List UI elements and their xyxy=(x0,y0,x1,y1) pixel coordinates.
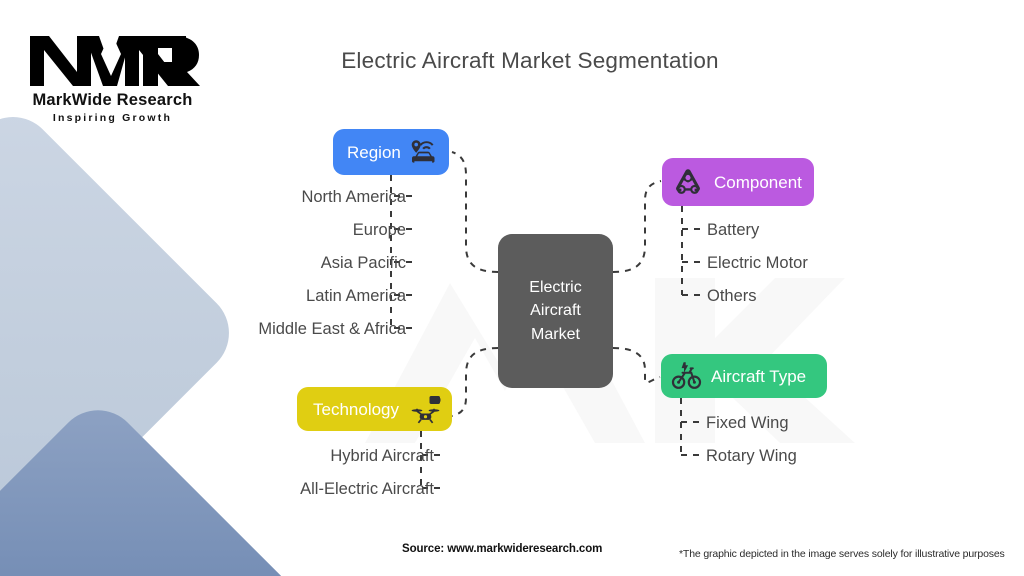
leaf-component-2[interactable]: Others xyxy=(707,288,757,305)
branch-node-component[interactable]: Component xyxy=(662,158,814,206)
central-node-line-3: Market xyxy=(531,323,580,346)
leaf-component-1[interactable]: Electric Motor xyxy=(707,255,808,272)
leaf-aircraft-type-0[interactable]: Fixed Wing xyxy=(706,415,789,432)
branch-node-aircraft-type-label: Aircraft Type xyxy=(711,368,806,385)
branch-node-aircraft-type[interactable]: Aircraft Type xyxy=(661,354,827,398)
branch-node-technology[interactable]: Technology xyxy=(297,387,452,431)
logo-company-name: MarkWide Research xyxy=(25,91,200,110)
drone-camera-icon xyxy=(410,394,442,424)
leaf-region-2[interactable]: Asia Pacific xyxy=(321,255,406,272)
leaf-component-0[interactable]: Battery xyxy=(707,222,759,239)
leaf-region-0[interactable]: North America xyxy=(301,189,406,206)
central-node-line-1: Electric xyxy=(529,276,581,299)
leaf-region-3[interactable]: Latin America xyxy=(306,288,406,305)
source-text: Source: www.markwideresearch.com xyxy=(402,543,602,555)
wire-center-region xyxy=(452,152,498,272)
decorative-square-dark xyxy=(0,393,310,576)
branch-node-component-label: Component xyxy=(714,174,802,191)
page-title: Electric Aircraft Market Segmentation xyxy=(0,48,1024,74)
page-title-text: Electric Aircraft Market Segmentation xyxy=(341,48,719,73)
disclaimer-text: *The graphic depicted in the image serve… xyxy=(679,548,1005,560)
leaf-aircraft-type-1[interactable]: Rotary Wing xyxy=(706,448,797,465)
brand-logo: MarkWide Research Inspiring Growth xyxy=(25,28,200,124)
location-vehicle-icon xyxy=(409,139,439,165)
branch-node-region-label: Region xyxy=(347,144,401,161)
infographic-canvas: MarkWide Research Inspiring Growth Elect… xyxy=(0,0,1024,576)
logo-tagline: Inspiring Growth xyxy=(25,112,200,124)
branch-node-region[interactable]: Region xyxy=(333,129,449,175)
leaf-technology-1[interactable]: All-Electric Aircraft xyxy=(300,481,434,498)
electric-bicycle-icon xyxy=(671,361,703,391)
central-node-line-2: Aircraft xyxy=(530,299,581,322)
branch-node-technology-label: Technology xyxy=(313,401,399,418)
leaf-technology-0[interactable]: Hybrid Aircraft xyxy=(330,448,434,465)
wire-center-technology xyxy=(452,348,498,416)
leaf-region-4[interactable]: Middle East & Africa xyxy=(258,321,406,338)
wire-center-component xyxy=(613,181,661,272)
wire-center-aircraft xyxy=(613,348,660,382)
central-node-electric-aircraft-market[interactable]: Electric Aircraft Market xyxy=(498,234,613,388)
mechanical-part-icon xyxy=(672,167,704,197)
leaf-region-1[interactable]: Europe xyxy=(353,222,406,239)
decorative-square-light xyxy=(0,100,246,567)
